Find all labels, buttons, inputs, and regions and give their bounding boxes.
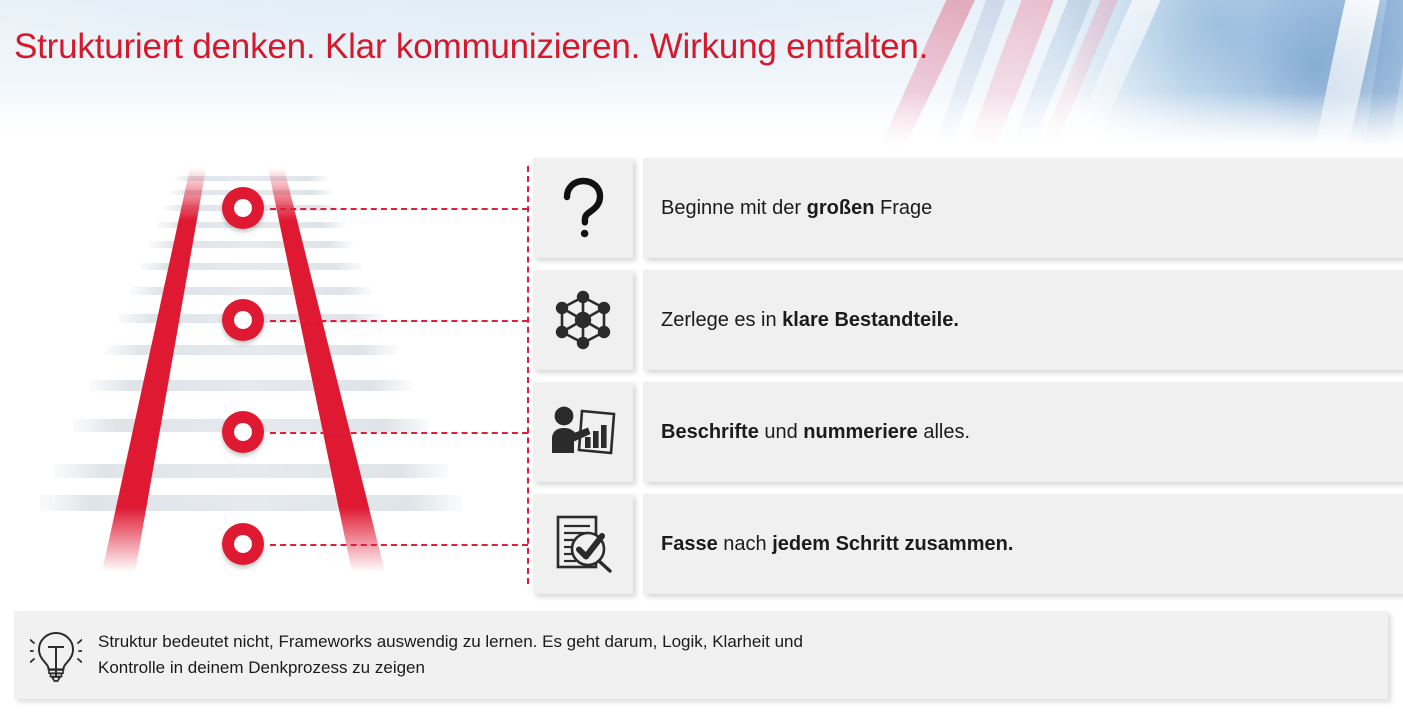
- ladder-svg: [40, 160, 480, 580]
- network-nodes-icon: [550, 287, 616, 353]
- footer-note: Struktur bedeutet nicht, Frameworks ausw…: [14, 611, 1388, 699]
- header-decorative-band: [0, 0, 1403, 152]
- step-text-box-3[interactable]: Beschrifte und nummeriere alles.: [643, 382, 1403, 482]
- step-text-box-4[interactable]: Fasse nach jedem Schritt zusammen.: [643, 494, 1403, 594]
- connector-dashed-line-2: [270, 320, 528, 322]
- connector-vertical-dashed-line: [527, 166, 529, 584]
- step-icon-box-1[interactable]: [533, 158, 633, 258]
- question-mark-icon: [553, 176, 613, 240]
- step-marker-4[interactable]: [222, 523, 264, 565]
- step-text-box-2[interactable]: Zerlege es in klare Bestandteile.: [643, 270, 1403, 370]
- page-title: Strukturiert denken. Klar kommunizieren.…: [14, 24, 928, 70]
- slide-root: Strukturiert denken. Klar kommunizieren.…: [0, 0, 1403, 714]
- connector-dashed-line-3: [270, 432, 528, 434]
- presenter-bar-chart-icon: [548, 401, 618, 463]
- step-marker-2[interactable]: [222, 299, 264, 341]
- step-marker-3[interactable]: [222, 411, 264, 453]
- note-icon-wrap: [14, 627, 98, 683]
- note-text-line1: Struktur bedeutet nicht, Frameworks ausw…: [98, 629, 803, 655]
- note-text: Struktur bedeutet nicht, Frameworks ausw…: [98, 629, 827, 681]
- step-icon-box-3[interactable]: [533, 382, 633, 482]
- connector-dashed-line-4: [270, 544, 528, 546]
- band-bottom-fade: [0, 92, 1403, 152]
- lightbulb-icon: [30, 627, 82, 683]
- step-icon-box-4[interactable]: [533, 494, 633, 594]
- document-check-magnifier-icon: [550, 511, 616, 577]
- step-icon-box-2[interactable]: [533, 270, 633, 370]
- connector-dashed-line-1: [270, 208, 528, 210]
- step-text-1: Beginne mit der großen Frage: [661, 194, 932, 222]
- note-text-line2: Kontrolle in deinem Denkprozess zu zeige…: [98, 655, 803, 681]
- perspective-ladder-graphic: [40, 160, 480, 580]
- step-text-4: Fasse nach jedem Schritt zusammen.: [661, 530, 1013, 558]
- step-marker-1[interactable]: [222, 187, 264, 229]
- step-text-box-1[interactable]: Beginne mit der großen Frage: [643, 158, 1403, 258]
- step-text-3: Beschrifte und nummeriere alles.: [661, 418, 970, 446]
- step-text-2: Zerlege es in klare Bestandteile.: [661, 306, 959, 334]
